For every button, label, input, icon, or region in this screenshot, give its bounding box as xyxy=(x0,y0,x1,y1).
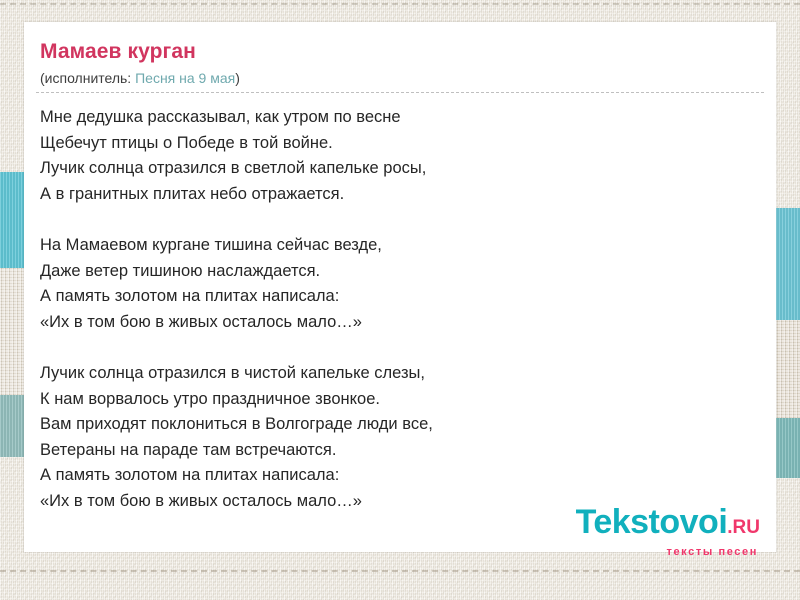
decor-band-texture xyxy=(0,172,24,268)
decor-band-texture xyxy=(776,418,800,478)
site-logo[interactable]: Tekstovoi.RU тексты песен xyxy=(560,505,760,550)
lyrics-line: А в гранитных плитах небо отражается. xyxy=(40,182,760,208)
lyrics-line: Вам приходят поклониться в Волгограде лю… xyxy=(40,412,760,438)
top-dashed-seam xyxy=(0,3,800,5)
bottom-dashed-seam xyxy=(0,570,800,572)
lyrics-line: Лучик солнца отразился в чистой капельке… xyxy=(40,361,760,387)
lyrics-line: Ветераны на параде там встречаются. xyxy=(40,438,760,464)
decor-band-right xyxy=(776,208,800,320)
lyrics-line: А память золотом на плитах написала: xyxy=(40,463,760,489)
logo-tld-text: .RU xyxy=(727,517,760,538)
lyrics-line: К нам ворвалось утро праздничное звонкое… xyxy=(40,387,760,413)
artist-line: (исполнитель: Песня на 9 мая) xyxy=(40,70,240,86)
lyrics-stanza: На Мамаевом кургане тишина сейчас везде,… xyxy=(40,233,760,335)
decor-band-right xyxy=(776,320,800,418)
lyrics-line: На Мамаевом кургане тишина сейчас везде, xyxy=(40,233,760,259)
decor-band-texture xyxy=(0,395,24,457)
logo-tagline: тексты песен xyxy=(560,546,760,558)
lyrics-line: Мне дедушка рассказывал, как утром по ве… xyxy=(40,105,760,131)
decor-band-texture xyxy=(776,208,800,320)
artist-suffix-label: ) xyxy=(235,70,240,86)
decor-band-left xyxy=(0,395,24,457)
logo-wordmark: Tekstovoi.RU xyxy=(560,505,760,545)
decor-band-left xyxy=(0,172,24,268)
page-title: Мамаев курган xyxy=(40,40,196,64)
lyrics-body: Мне дедушка рассказывал, как утром по ве… xyxy=(40,105,760,515)
artist-prefix-label: (исполнитель: xyxy=(40,70,135,86)
decor-band-texture xyxy=(0,268,24,395)
decor-band-texture xyxy=(776,320,800,418)
lyrics-card: Мамаев курган (исполнитель: Песня на 9 м… xyxy=(24,22,776,552)
lyrics-stanza: Мне дедушка рассказывал, как утром по ве… xyxy=(40,105,760,207)
lyrics-line: «Их в том бою в живых осталось мало…» xyxy=(40,310,760,336)
lyrics-line: Щебечут птицы о Победе в той войне. xyxy=(40,131,760,157)
decor-band-right xyxy=(776,418,800,478)
lyrics-line: Лучик солнца отразился в светлой капельк… xyxy=(40,156,760,182)
logo-name-text: Tekstovoi xyxy=(576,503,728,541)
title-separator xyxy=(36,92,764,93)
decor-band-left xyxy=(0,268,24,395)
lyrics-line: А память золотом на плитах написала: xyxy=(40,284,760,310)
lyrics-stanza: Лучик солнца отразился в чистой капельке… xyxy=(40,361,760,515)
artist-link[interactable]: Песня на 9 мая xyxy=(135,70,235,86)
lyrics-line: Даже ветер тишиною наслаждается. xyxy=(40,259,760,285)
